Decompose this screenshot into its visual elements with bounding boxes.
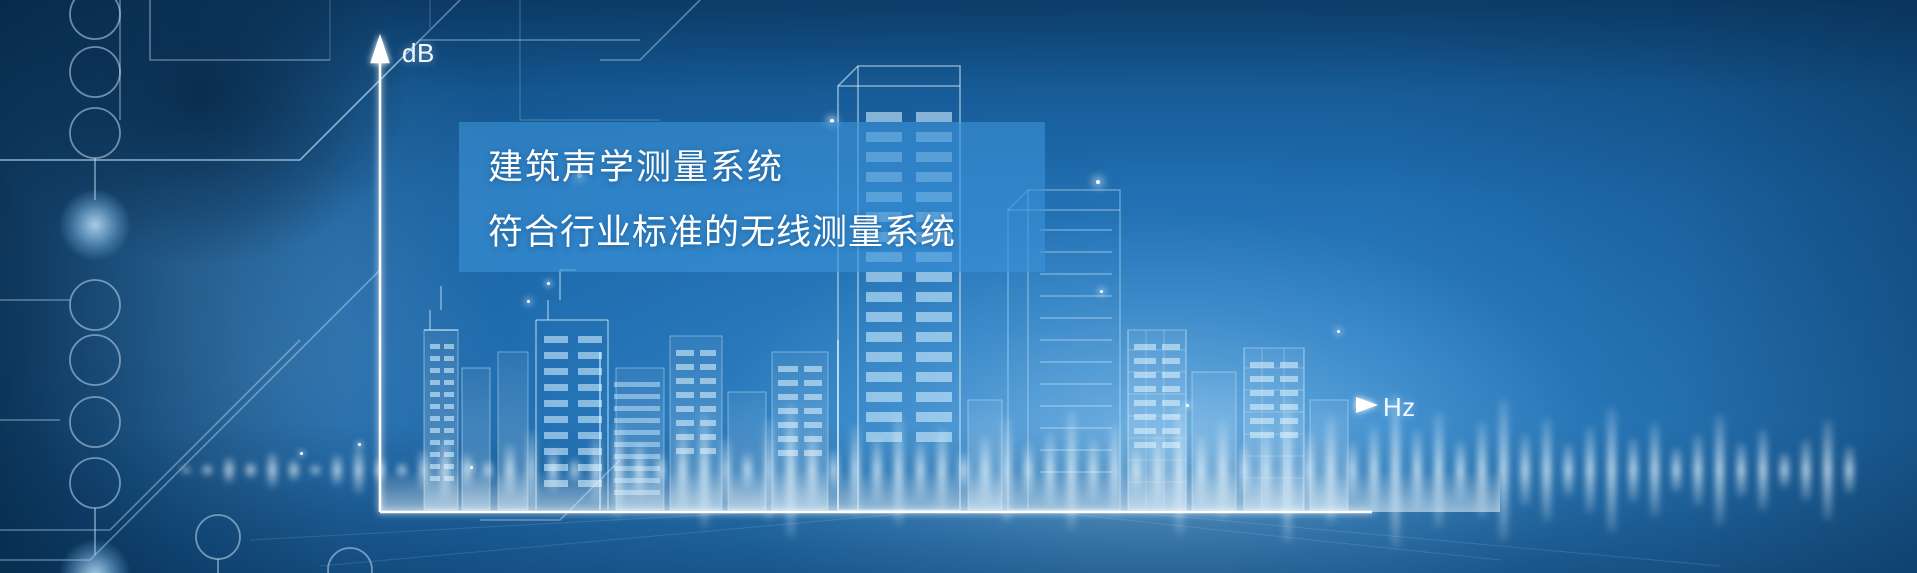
headline-group: 建筑声学测量系统 符合行业标准的无线测量系统 (488, 150, 1048, 250)
hero-banner: dB Hz 建筑声学测量系统 符合行业标准的无线测量系统 (0, 0, 1917, 573)
arrow-up-icon (372, 38, 388, 62)
page-subtitle: 符合行业标准的无线测量系统 (488, 215, 1048, 250)
x-axis-label: Hz (1383, 392, 1416, 423)
arrow-right-icon (1356, 397, 1378, 413)
chart-axes (0, 0, 1917, 573)
y-axis-label: dB (402, 38, 435, 69)
page-title: 建筑声学测量系统 (488, 150, 1048, 185)
